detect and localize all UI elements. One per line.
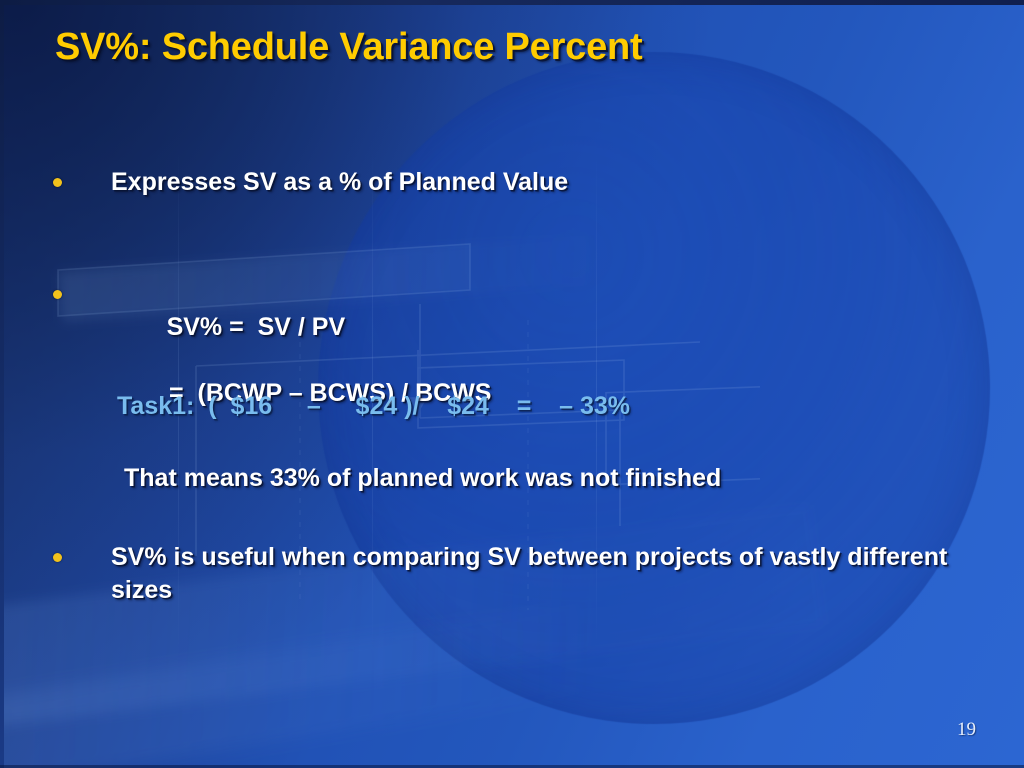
example-task-line: Task1: ( $16 – $24 )/ $24 = – 33%: [117, 390, 630, 422]
page-number: 19: [957, 719, 976, 741]
slide-title: SV%: Schedule Variance Percent: [55, 26, 643, 69]
slide-canvas: SV%: Schedule Variance Percent Expresses…: [0, 0, 1024, 768]
bullet-dot-icon: [53, 178, 62, 187]
formula-block: SV% = SV / PV = (BCWP – BCWS) / BCWS: [111, 278, 491, 476]
bullet-item-2: SV% = SV / PV = (BCWP – BCWS) / BCWS: [53, 278, 491, 476]
bullet-item-1: Expresses SV as a % of Planned Value: [53, 166, 568, 199]
bullet-dot-icon: [53, 553, 62, 562]
bullet-dot-icon: [53, 290, 62, 299]
example-note: That means 33% of planned work was not f…: [124, 462, 721, 494]
bullet-item-3: SV% is useful when comparing SV between …: [53, 541, 993, 607]
bullet-text-1: Expresses SV as a % of Planned Value: [111, 166, 568, 199]
bullet-text-3: SV% is useful when comparing SV between …: [111, 541, 991, 607]
formula-line-1: SV% = SV / PV: [167, 313, 346, 341]
